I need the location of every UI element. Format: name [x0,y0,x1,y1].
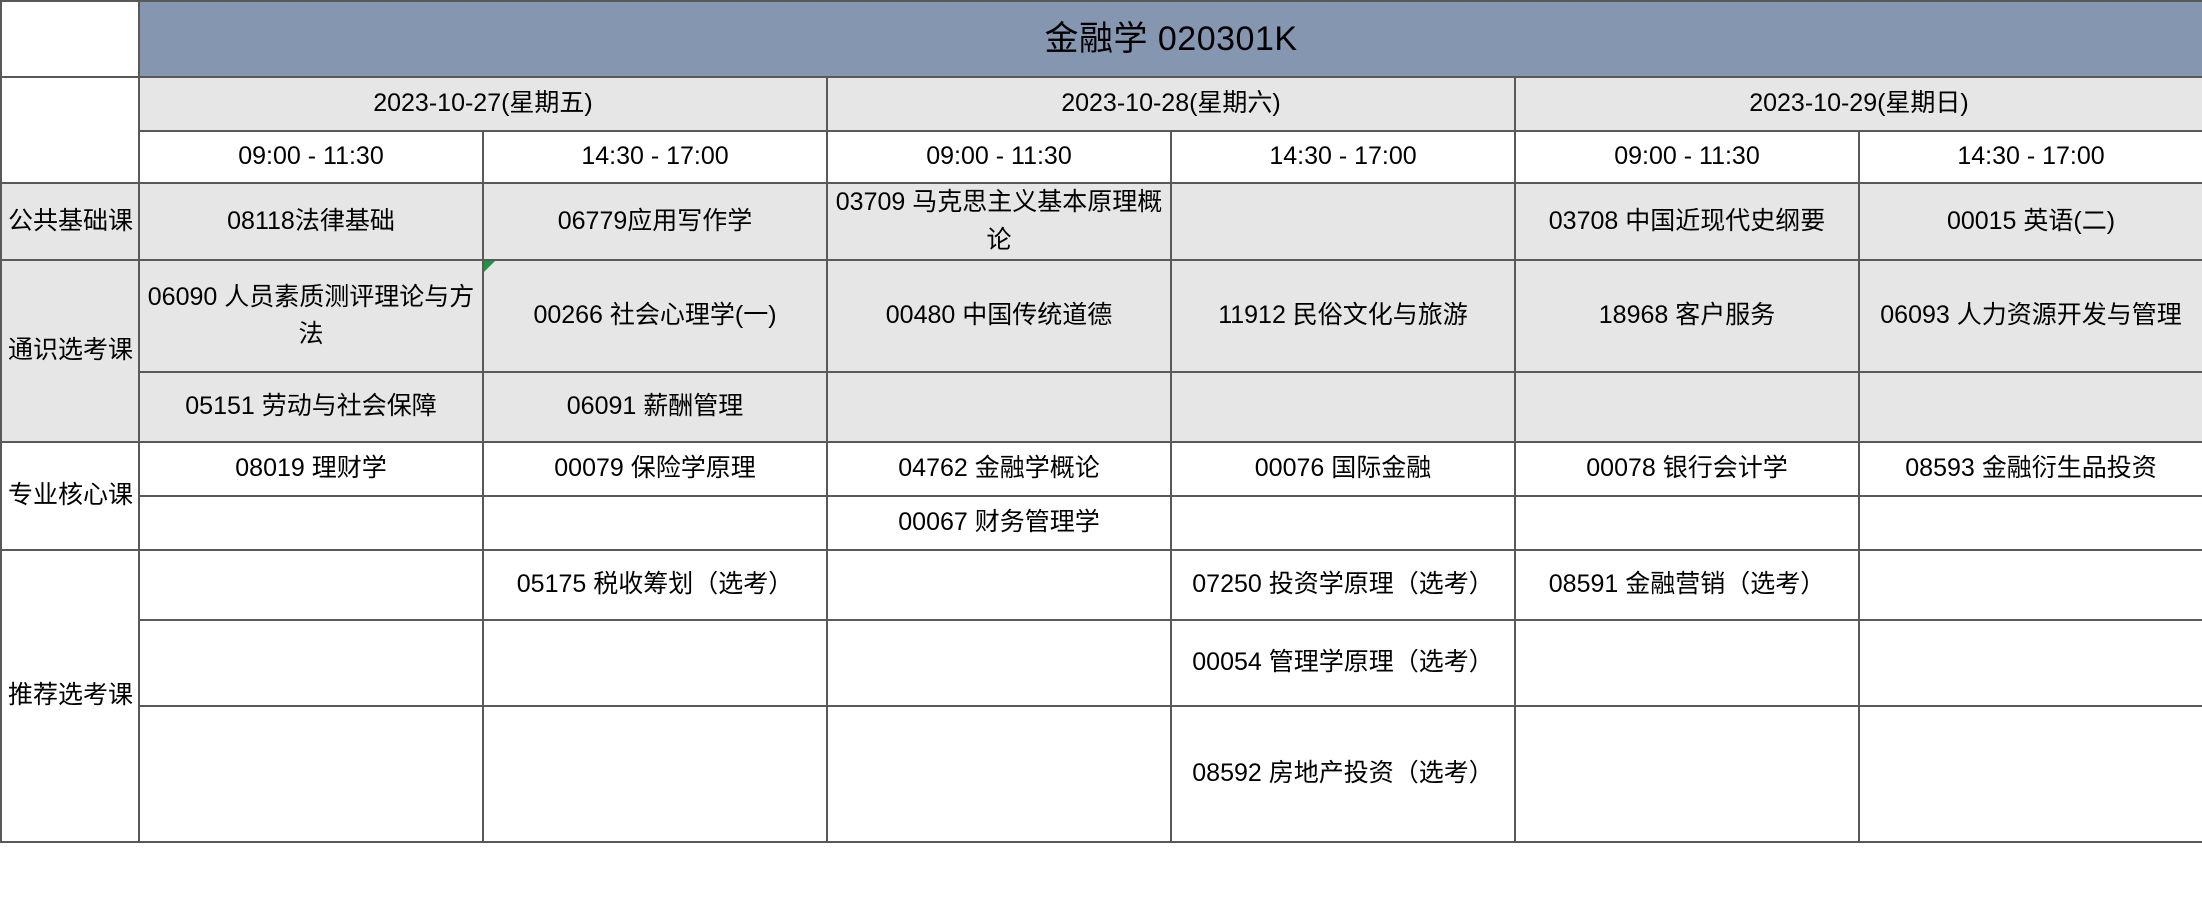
date-header-day-2: 2023-10-28(星期六) [827,77,1515,131]
course-cell [1859,496,2202,550]
course-cell: 03709 马克思主义基本原理概论 [827,183,1171,260]
course-cell: 06093 人力资源开发与管理 [1859,260,2202,372]
category-label-recommended: 推荐选考课 [1,550,139,842]
course-cell: 07250 投资学原理（选考） [1171,550,1515,620]
course-cell [139,706,483,842]
table-row-recommended-1: 推荐选考课 05175 税收筹划（选考） 07250 投资学原理（选考） 085… [1,550,2202,620]
table-row-general-elective-2: 05151 劳动与社会保障 06091 薪酬管理 [1,372,2202,442]
course-cell: 00015 英语(二) [1859,183,2202,260]
course-cell: 08118法律基础 [139,183,483,260]
time-slot-day2-morning: 09:00 - 11:30 [827,131,1171,183]
course-cell [1515,620,1859,706]
time-header-row: 09:00 - 11:30 14:30 - 17:00 09:00 - 11:3… [1,131,2202,183]
course-cell: 00076 国际金融 [1171,442,1515,496]
course-cell [1171,183,1515,260]
course-cell [1171,496,1515,550]
course-cell [483,706,827,842]
course-cell: 00079 保险学原理 [483,442,827,496]
course-cell [139,496,483,550]
course-cell [139,550,483,620]
table-row-recommended-2: 00054 管理学原理（选考） [1,620,2202,706]
course-cell [1171,372,1515,442]
time-slot-day3-morning: 09:00 - 11:30 [1515,131,1859,183]
course-cell [483,496,827,550]
course-cell: 05175 税收筹划（选考） [483,550,827,620]
time-slot-day1-afternoon: 14:30 - 17:00 [483,131,827,183]
time-slot-day2-afternoon: 14:30 - 17:00 [1171,131,1515,183]
course-cell: 00480 中国传统道德 [827,260,1171,372]
course-cell: 03708 中国近现代史纲要 [1515,183,1859,260]
course-cell: 08019 理财学 [139,442,483,496]
course-cell: 06779应用写作学 [483,183,827,260]
date-header-day-1: 2023-10-27(星期五) [139,77,827,131]
course-cell: 00067 财务管理学 [827,496,1171,550]
course-cell [827,620,1171,706]
course-cell: 08592 房地产投资（选考） [1171,706,1515,842]
category-label-general-elective: 通识选考课 [1,260,139,442]
date-header-day-3: 2023-10-29(星期日) [1515,77,2202,131]
course-cell: 06091 薪酬管理 [483,372,827,442]
comment-marker-icon [484,261,495,272]
title-corner-blank [1,1,139,77]
course-cell [1515,496,1859,550]
course-cell: 04762 金融学概论 [827,442,1171,496]
course-cell: 00054 管理学原理（选考） [1171,620,1515,706]
course-cell [1859,550,2202,620]
course-cell: 11912 民俗文化与旅游 [1171,260,1515,372]
course-cell: 18968 客户服务 [1515,260,1859,372]
course-cell [827,550,1171,620]
course-cell: 00078 银行会计学 [1515,442,1859,496]
course-cell [1859,620,2202,706]
table-row-public-basic: 公共基础课 08118法律基础 06779应用写作学 03709 马克思主义基本… [1,183,2202,260]
category-label-public-basic: 公共基础课 [1,183,139,260]
table-row-core-1: 专业核心课 08019 理财学 00079 保险学原理 04762 金融学概论 … [1,442,2202,496]
page-title: 金融学 020301K [139,1,2202,77]
table-row-recommended-3: 08592 房地产投资（选考） [1,706,2202,842]
course-cell [483,620,827,706]
course-cell: 00266 社会心理学(一) [483,260,827,372]
course-cell-text: 00266 社会心理学(一) [533,301,776,329]
course-cell: 05151 劳动与社会保障 [139,372,483,442]
table-row-core-2: 00067 财务管理学 [1,496,2202,550]
course-cell: 06090 人员素质测评理论与方法 [139,260,483,372]
course-cell: 08593 金融衍生品投资 [1859,442,2202,496]
table-row-general-elective-1: 通识选考课 06090 人员素质测评理论与方法 00266 社会心理学(一) 0… [1,260,2202,372]
header-corner-cell [1,77,139,183]
course-cell [827,372,1171,442]
exam-schedule-table: 金融学 020301K 2023-10-27(星期五) 2023-10-28(星… [0,0,2202,843]
time-slot-day1-morning: 09:00 - 11:30 [139,131,483,183]
date-header-row: 2023-10-27(星期五) 2023-10-28(星期六) 2023-10-… [1,77,2202,131]
course-cell [1859,372,2202,442]
course-cell [1515,706,1859,842]
course-cell: 08591 金融营销（选考） [1515,550,1859,620]
category-label-core: 专业核心课 [1,442,139,550]
time-slot-day3-afternoon: 14:30 - 17:00 [1859,131,2202,183]
course-cell [1859,706,2202,842]
schedule-sheet: 金融学 020301K 2023-10-27(星期五) 2023-10-28(星… [0,0,2202,924]
course-cell [139,620,483,706]
course-cell [827,706,1171,842]
title-row: 金融学 020301K [1,1,2202,77]
course-cell [1515,372,1859,442]
